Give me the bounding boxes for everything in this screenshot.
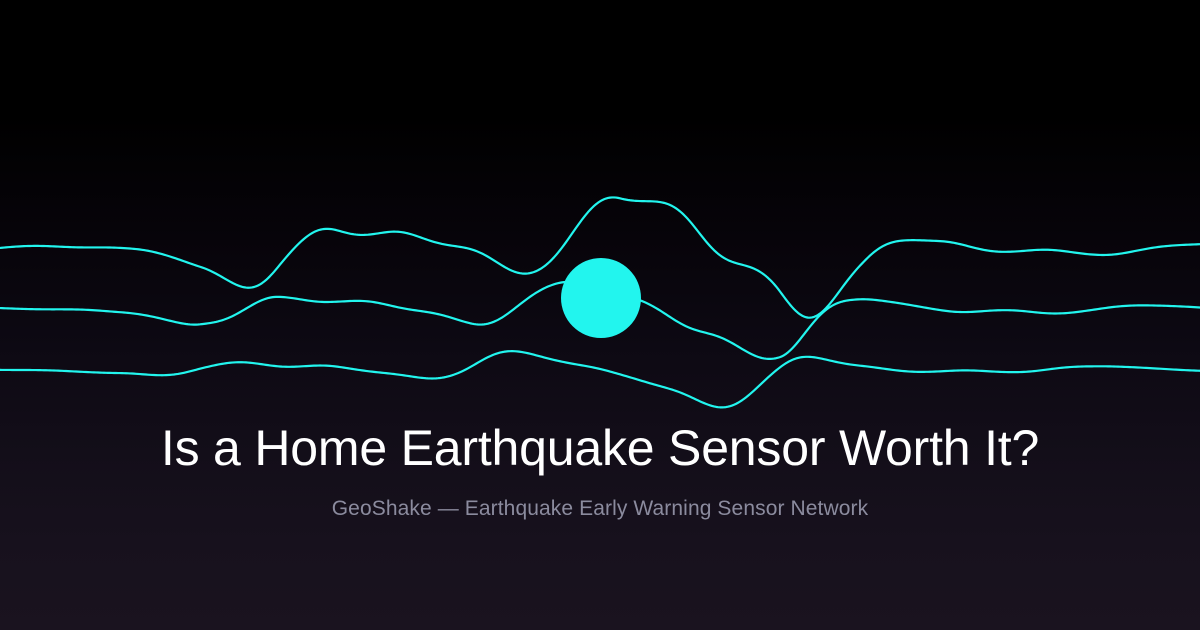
- seismograph-waveform: [0, 0, 1200, 630]
- epicenter-dot: [561, 258, 641, 338]
- trace-bottom: [0, 351, 1200, 407]
- social-card: Is a Home Earthquake Sensor Worth It? Ge…: [0, 0, 1200, 630]
- page-subtitle: GeoShake — Earthquake Early Warning Sens…: [60, 478, 1140, 522]
- page-title: Is a Home Earthquake Sensor Worth It?: [60, 418, 1140, 478]
- hero-text-block: Is a Home Earthquake Sensor Worth It? Ge…: [0, 418, 1200, 522]
